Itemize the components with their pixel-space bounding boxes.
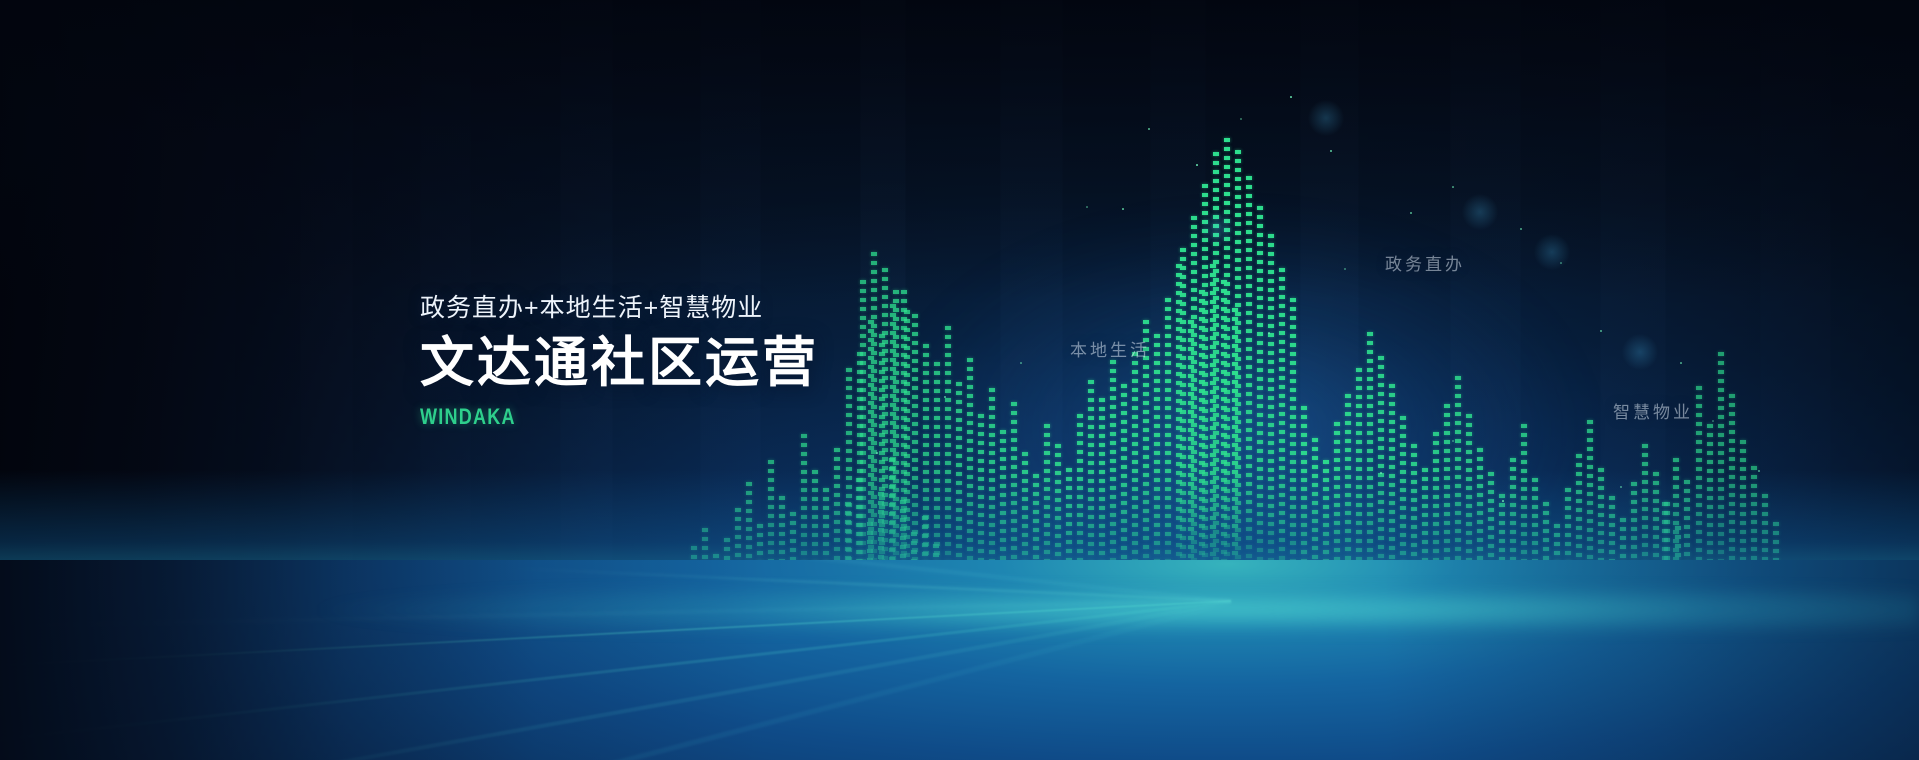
sparkle-particle: [1620, 486, 1622, 488]
sparkle-particle: [1330, 150, 1332, 152]
sparkle-particle: [1520, 228, 1522, 230]
sparkle-particle: [1380, 472, 1382, 474]
sparkle-particle: [1344, 268, 1346, 270]
sparkle-particle: [1268, 332, 1270, 334]
floating-label-local-life: 本地生活: [1070, 336, 1150, 361]
sparkle-particle: [1290, 96, 1292, 98]
sparkle-particle: [1712, 420, 1714, 422]
sparkle-particle: [1452, 186, 1454, 188]
sparkle-particle: [1502, 500, 1504, 502]
floating-label-government: 政务直办: [1385, 250, 1465, 275]
perspective-ground: [0, 560, 1919, 760]
page-title: 文达通社区运营: [420, 335, 819, 392]
particle-halo: [1300, 92, 1352, 144]
horizon-glow: [0, 590, 1919, 630]
brand-wordmark: WINDAKA: [420, 404, 747, 430]
particle-halo: [1526, 226, 1578, 278]
sparkle-particle: [1600, 330, 1602, 332]
sparkle-particle: [1240, 118, 1242, 120]
sparkle-particle: [1410, 212, 1412, 214]
sparkle-particle: [1452, 440, 1454, 442]
sparkle-particle: [1148, 128, 1150, 130]
sparkle-particle: [876, 452, 878, 454]
skyline-bar: [1257, 206, 1263, 620]
banner-stage: 政务直办+本地生活+智慧物业 文达通社区运营 WINDAKA 政务直办 本地生活…: [0, 0, 1919, 760]
sparkle-particle: [1758, 470, 1760, 472]
sparkle-particle: [1086, 206, 1088, 208]
sparkle-particle: [1122, 208, 1124, 210]
particle-halo: [1454, 186, 1506, 238]
sparkle-particle: [944, 396, 946, 398]
subtitle-text: 政务直办+本地生活+智慧物业: [420, 293, 819, 323]
sparkle-particle: [1196, 164, 1198, 166]
sparkle-particle: [1020, 362, 1022, 364]
dotted-skyline-chart: [0, 0, 1919, 620]
floating-label-smart-property: 智慧物业: [1613, 398, 1693, 423]
skyline-bar: [1246, 176, 1252, 620]
particle-halo: [1192, 202, 1244, 254]
sparkle-particle: [1680, 362, 1682, 364]
headline-block: 政务直办+本地生活+智慧物业 文达通社区运营 WINDAKA: [420, 293, 819, 430]
particle-halo: [1614, 326, 1666, 378]
